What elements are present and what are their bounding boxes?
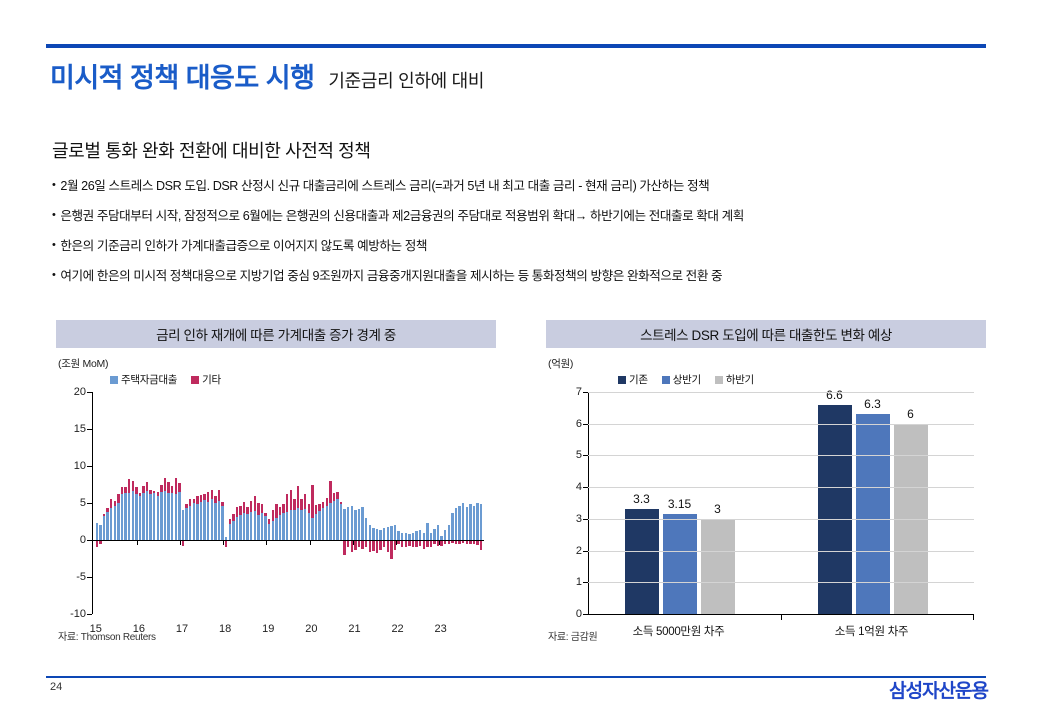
bar-column xyxy=(96,392,98,614)
bar-segment-housing xyxy=(361,507,363,540)
x-axis-tick-mark xyxy=(396,540,397,545)
bar-column xyxy=(243,392,245,614)
bar-column xyxy=(103,392,105,614)
bar-segment-housing xyxy=(390,526,392,540)
x-axis-tick-label: 20 xyxy=(305,623,317,635)
bar-column xyxy=(218,392,220,614)
bar-segment-other xyxy=(279,507,281,514)
bar-segment-other xyxy=(347,540,349,547)
bar-segment-housing xyxy=(189,506,191,540)
bar-column xyxy=(290,392,292,614)
y-axis-tick-label: -10 xyxy=(70,608,86,620)
bar-column xyxy=(171,392,173,614)
legend-label: 기존 xyxy=(629,372,648,387)
bar-segment-housing xyxy=(326,506,328,540)
bar-segment-other xyxy=(121,487,123,494)
bar-segment-other xyxy=(196,496,198,503)
chart-panel-household-loans: 금리 인하 재개에 따른 가계대출 증가 경계 중 (조원 MoM) 주택자금대… xyxy=(56,320,496,348)
y-axis-tick-mark xyxy=(87,466,92,467)
bar-segment-housing xyxy=(415,531,417,540)
bar-column xyxy=(318,392,320,614)
bar-column xyxy=(99,392,101,614)
y-axis-tick-mark xyxy=(87,614,92,615)
bar-column xyxy=(239,392,241,614)
bar-column xyxy=(193,392,195,614)
x-axis-tick-mark xyxy=(180,540,181,545)
x-axis-tick-mark xyxy=(310,540,311,545)
legend-item-first-half: 상반기 xyxy=(662,372,701,387)
x-axis-tick-label: 19 xyxy=(262,623,274,635)
bar-column xyxy=(254,392,256,614)
bar-column xyxy=(250,392,252,614)
bar-segment-other xyxy=(175,478,177,494)
bar-segment-other xyxy=(257,503,259,515)
bar-segment-housing xyxy=(473,506,475,540)
legend-swatch-first-half xyxy=(662,376,670,384)
chart-panel-dsr-limits: 스트레스 DSR 도입에 따른 대출한도 변화 예상 (억원) 기존 상반기 하… xyxy=(546,320,986,348)
page-subtitle: 기준금리 인하에 대비 xyxy=(328,67,484,93)
bar-segment-housing xyxy=(232,521,234,540)
bar-column xyxy=(315,392,317,614)
bar-segment-housing xyxy=(405,533,407,540)
bar-column xyxy=(142,392,144,614)
bar-segment-other xyxy=(132,481,134,491)
bar-column xyxy=(343,392,345,614)
bar-column xyxy=(207,392,209,614)
bar-series-layer: 3.33.1536.66.36 xyxy=(589,392,974,614)
bar-segment-other xyxy=(315,505,317,514)
bar-기존: 3.3 xyxy=(625,509,659,614)
bar-segment-housing xyxy=(365,518,367,540)
bar-segment-other xyxy=(383,540,385,547)
bar-segment-housing xyxy=(469,504,471,540)
page-title: 미시적 정책 대응도 시행 xyxy=(50,56,314,95)
bar-segment-housing xyxy=(444,530,446,540)
bar-segment-housing xyxy=(476,503,478,540)
bar-segment-housing xyxy=(275,518,277,540)
bar-column xyxy=(167,392,169,614)
bar-segment-housing xyxy=(423,533,425,540)
bar-segment-housing xyxy=(117,503,119,540)
bar-segment-other xyxy=(365,540,367,547)
bar-segment-housing xyxy=(308,513,310,540)
bar-column xyxy=(329,392,331,614)
bar-segment-other xyxy=(308,504,310,514)
bar-column xyxy=(236,392,238,614)
bar-segment-other xyxy=(390,540,392,559)
x-axis-tick-label: 18 xyxy=(219,623,231,635)
bar-column xyxy=(196,392,198,614)
y-axis-tick-label: 20 xyxy=(74,386,86,398)
bar-column xyxy=(286,392,288,614)
bar-segment-housing xyxy=(164,491,166,540)
bar-segment-housing xyxy=(229,524,231,540)
bar-column xyxy=(423,392,425,614)
bar-column xyxy=(268,392,270,614)
footer-accent-rule xyxy=(46,676,986,678)
bar-segment-housing xyxy=(290,510,292,540)
list-item: • 2월 26일 스트레스 DSR 도입. DSR 산정시 신규 대출금리에 스… xyxy=(52,178,997,195)
bar-segment-housing xyxy=(336,499,338,540)
bar-value-label: 3.3 xyxy=(633,492,650,506)
y-axis-tick-label: 10 xyxy=(74,460,86,472)
bar-segment-other xyxy=(261,504,263,513)
bar-column xyxy=(455,392,457,614)
bar-segment-housing xyxy=(146,491,148,540)
bar-segment-other xyxy=(110,499,112,509)
bar-column xyxy=(401,392,403,614)
bar-column xyxy=(397,392,399,614)
bar-segment-housing xyxy=(466,507,468,540)
bar-segment-other xyxy=(318,504,320,511)
bullet-text: 2월 26일 스트레스 DSR 도입. DSR 산정시 신규 대출금리에 스트레… xyxy=(60,178,709,195)
bar-segment-housing xyxy=(254,511,256,540)
bar-column xyxy=(354,392,356,614)
bar-column xyxy=(149,392,151,614)
bar-segment-other xyxy=(282,504,284,513)
bar-segment-housing xyxy=(167,493,169,540)
y-axis-tick-label: 4 xyxy=(576,481,582,493)
bar-segment-housing xyxy=(333,501,335,540)
bar-segment-housing xyxy=(383,528,385,540)
bar-segment-housing xyxy=(401,533,403,540)
y-axis-tick-label: 1 xyxy=(576,576,582,588)
legend-swatch-existing xyxy=(618,376,626,384)
bar-segment-other xyxy=(103,514,105,516)
bar-segment-other xyxy=(254,496,256,511)
bar-segment-other xyxy=(293,499,295,509)
bar-column xyxy=(433,392,435,614)
y-axis-tick-mark xyxy=(87,392,92,393)
bar-segment-housing xyxy=(203,500,205,540)
bar-segment-other xyxy=(322,502,324,508)
bar-column xyxy=(114,392,116,614)
bar-column xyxy=(203,392,205,614)
bar-column xyxy=(200,392,202,614)
bar-column xyxy=(175,392,177,614)
bar-segment-housing xyxy=(218,501,220,540)
bar-segment-housing xyxy=(347,507,349,540)
bar-column xyxy=(297,392,299,614)
bar-segment-housing xyxy=(121,494,123,540)
bar-segment-housing xyxy=(293,510,295,540)
bar-column xyxy=(293,392,295,614)
list-item: • 한은의 기준금리 인하가 가계대출급증으로 이어지지 않도록 예방하는 정책 xyxy=(52,238,997,255)
bar-segment-housing xyxy=(268,524,270,540)
bar-column xyxy=(246,392,248,614)
bar-segment-housing xyxy=(340,504,342,540)
bar-column xyxy=(419,392,421,614)
bar-column xyxy=(160,392,162,614)
chart-legend-right: 기존 상반기 하반기 xyxy=(618,372,754,387)
bar-segment-housing xyxy=(128,493,130,540)
bar-segment-other xyxy=(153,491,155,493)
y-axis-tick-mark xyxy=(87,577,92,578)
x-axis-tick-mark xyxy=(266,540,267,545)
bar-column xyxy=(124,392,126,614)
bar-column xyxy=(358,392,360,614)
bar-segment-other xyxy=(290,490,292,511)
bar-column xyxy=(275,392,277,614)
bar-segment-other xyxy=(372,540,374,551)
x-axis-tick-mark xyxy=(223,540,224,545)
bar-column xyxy=(214,392,216,614)
bar-column xyxy=(451,392,453,614)
bar-column xyxy=(189,392,191,614)
bar-segment-housing xyxy=(250,512,252,540)
section-heading: 글로벌 통화 완화 전환에 대비한 사전적 정책 xyxy=(52,137,370,163)
bar-column xyxy=(405,392,407,614)
bar-segment-housing xyxy=(193,503,195,540)
bar-column xyxy=(390,392,392,614)
y-axis-tick-label: -5 xyxy=(76,571,86,583)
bar-segment-other xyxy=(480,540,482,550)
gridline xyxy=(588,582,974,583)
bar-segment-housing xyxy=(433,529,435,540)
brand-logo: 삼성자산운용 xyxy=(889,676,988,703)
bar-segment-other xyxy=(336,492,338,499)
bar-column xyxy=(257,392,259,614)
bar-segment-housing xyxy=(430,533,432,540)
bullet-text: 은행권 주담대부터 시작, 잠정적으로 6월에는 은행권의 신용대출과 제2금융… xyxy=(60,208,743,225)
y-axis-tick-mark xyxy=(583,392,588,393)
bar-segment-housing xyxy=(149,494,151,540)
bar-segment-housing xyxy=(397,531,399,540)
bar-column xyxy=(139,392,141,614)
y-axis-tick-label: 3 xyxy=(576,513,582,525)
bar-column xyxy=(232,392,234,614)
legend-swatch-housing xyxy=(110,376,118,384)
y-axis-tick-label: 7 xyxy=(576,386,582,398)
bar-segment-other xyxy=(218,490,220,501)
y-axis-tick-mark xyxy=(583,424,588,425)
category-label: 소득 5000만원 차주 xyxy=(633,623,725,639)
x-axis-zero-line xyxy=(92,540,484,541)
bar-column xyxy=(426,392,428,614)
bar-segment-housing xyxy=(135,494,137,540)
bar-segment-housing xyxy=(279,515,281,540)
plot-area-right: 3.33.1536.66.36 76543210소득 5000만원 차주소득 1… xyxy=(588,392,974,614)
bar-segment-housing xyxy=(246,514,248,540)
bar-segment-housing xyxy=(351,506,353,540)
bar-value-label: 6 xyxy=(907,407,914,421)
bar-segment-housing xyxy=(175,494,177,540)
bar-column xyxy=(110,392,112,614)
bar-segment-other xyxy=(361,540,363,549)
x-axis-tick-mark xyxy=(137,540,138,545)
bar-series-layer xyxy=(93,392,484,614)
bar-segment-other xyxy=(343,540,345,555)
x-axis-tick-label: 22 xyxy=(391,623,403,635)
bar-segment-other xyxy=(268,519,270,523)
bar-하반기: 3 xyxy=(701,519,735,614)
legend-swatch-other xyxy=(191,376,199,384)
bar-segment-housing xyxy=(451,513,453,540)
header-accent-rule xyxy=(46,44,986,48)
bar-value-label: 6.6 xyxy=(826,388,843,402)
bar-column xyxy=(178,392,180,614)
bar-segment-housing xyxy=(196,504,198,540)
bar-value-label: 3.15 xyxy=(668,497,691,511)
bar-segment-housing xyxy=(455,508,457,540)
bar-column xyxy=(333,392,335,614)
bar-segment-housing xyxy=(142,493,144,540)
bar-column xyxy=(121,392,123,614)
gridline xyxy=(588,455,974,456)
bar-column xyxy=(311,392,313,614)
bar-segment-other xyxy=(286,494,288,512)
bar-segment-other xyxy=(423,540,425,549)
legend-label: 하반기 xyxy=(726,372,754,387)
bar-segment-other xyxy=(264,513,266,517)
bar-segment-other xyxy=(142,486,144,493)
bar-segment-housing xyxy=(379,530,381,540)
bar-column xyxy=(351,392,353,614)
bar-segment-other xyxy=(117,494,119,503)
bar-column xyxy=(272,392,274,614)
bar-segment-other xyxy=(412,540,414,547)
bar-segment-other xyxy=(207,492,209,502)
bar-segment-housing xyxy=(329,503,331,540)
bar-segment-housing xyxy=(124,493,126,540)
bar-segment-other xyxy=(297,486,299,508)
legend-item-second-half: 하반기 xyxy=(715,372,754,387)
y-axis-tick-label: 2 xyxy=(576,545,582,557)
bar-segment-other xyxy=(387,540,389,552)
y-axis-tick-label: 0 xyxy=(80,534,86,546)
bar-column xyxy=(444,392,446,614)
bar-column xyxy=(458,392,460,614)
bar-segment-housing xyxy=(318,511,320,540)
bar-column xyxy=(221,392,223,614)
bar-segment-other xyxy=(243,502,245,514)
bar-segment-other xyxy=(211,490,213,499)
bar-column xyxy=(117,392,119,614)
gridline xyxy=(588,487,974,488)
bar-segment-housing xyxy=(257,515,259,540)
bar-segment-housing xyxy=(178,492,180,540)
plot-area-left: 20151050-5-10151617181920212223 xyxy=(92,392,484,614)
x-axis-tick-label: 23 xyxy=(435,623,447,635)
bar-segment-other xyxy=(171,486,173,493)
bar-column xyxy=(412,392,414,614)
bar-segment-other xyxy=(167,482,169,493)
bar-column xyxy=(440,392,442,614)
bar-segment-housing xyxy=(103,516,105,540)
bullet-marker-icon: • xyxy=(52,238,55,253)
bar-column xyxy=(372,392,374,614)
bar-column xyxy=(225,392,227,614)
bar-segment-other xyxy=(376,540,378,553)
bar-상반기: 6.3 xyxy=(856,414,890,614)
bar-segment-housing xyxy=(106,512,108,540)
bar-segment-other xyxy=(124,487,126,493)
x-axis-tick-mark xyxy=(439,540,440,545)
chart-source-right: 자료: 금감원 xyxy=(548,628,597,643)
bar-segment-housing xyxy=(99,525,101,540)
list-item: • 여기에 한은의 미시적 정책대응으로 지방기업 중심 9조원까지 금융중개지… xyxy=(52,268,997,285)
bar-segment-housing xyxy=(480,504,482,540)
bar-column xyxy=(106,392,108,614)
y-axis-tick-mark xyxy=(583,551,588,552)
bar-segment-housing xyxy=(282,513,284,540)
bar-column xyxy=(383,392,385,614)
bar-value-label: 6.3 xyxy=(864,397,881,411)
bar-segment-other xyxy=(354,540,356,550)
chart-title-left: 금리 인하 재개에 따른 가계대출 증가 경계 중 xyxy=(56,320,496,348)
bar-column xyxy=(185,392,187,614)
bar-segment-other xyxy=(193,499,195,503)
bar-column xyxy=(164,392,166,614)
bar-segment-housing xyxy=(264,516,266,540)
bar-segment-housing xyxy=(315,514,317,540)
bar-segment-housing xyxy=(322,508,324,540)
bar-column xyxy=(135,392,137,614)
bar-segment-housing xyxy=(297,508,299,540)
y-axis-tick-label: 0 xyxy=(576,608,582,620)
bar-segment-housing xyxy=(311,518,313,540)
bar-segment-other xyxy=(229,519,231,523)
bar-segment-housing xyxy=(171,493,173,540)
bar-segment-housing xyxy=(412,533,414,540)
bar-segment-housing xyxy=(458,506,460,540)
bar-column xyxy=(146,392,148,614)
page-number: 24 xyxy=(50,681,62,693)
bar-segment-housing xyxy=(358,509,360,540)
bar-segment-other xyxy=(311,485,313,518)
bullet-list: • 2월 26일 스트레스 DSR 도입. DSR 산정시 신규 대출금리에 스… xyxy=(52,178,997,298)
bar-segment-housing xyxy=(214,503,216,540)
bar-segment-housing xyxy=(236,517,238,540)
gridline xyxy=(588,519,974,520)
bar-column xyxy=(379,392,381,614)
bar-segment-housing xyxy=(114,506,116,540)
list-item: • 은행권 주담대부터 시작, 잠정적으로 6월에는 은행권의 신용대출과 제2… xyxy=(52,208,997,225)
slide-title-row: 미시적 정책 대응도 시행 기준금리 인하에 대비 xyxy=(50,56,484,95)
bar-segment-other xyxy=(157,492,159,496)
category-separator-tick xyxy=(781,614,782,620)
bar-segment-other xyxy=(135,487,137,494)
bar-segment-other xyxy=(426,540,428,547)
bar-segment-housing xyxy=(153,493,155,540)
bar-segment-housing xyxy=(110,508,112,540)
bar-column xyxy=(430,392,432,614)
bar-column xyxy=(264,392,266,614)
bar-segment-housing xyxy=(394,525,396,540)
bar-segment-other xyxy=(146,482,148,492)
bar-segment-other xyxy=(221,502,223,506)
bar-segment-other xyxy=(189,499,191,506)
bar-column xyxy=(361,392,363,614)
bar-column xyxy=(261,392,263,614)
y-axis-tick-mark xyxy=(583,519,588,520)
bar-segment-other xyxy=(272,510,274,520)
bar-column xyxy=(387,392,389,614)
legend-item-other: 기타 xyxy=(191,372,221,387)
bar-segment-other xyxy=(114,501,116,506)
bar-segment-other xyxy=(329,481,331,503)
bar-segment-other xyxy=(225,540,227,547)
bar-segment-housing xyxy=(286,512,288,540)
bar-segment-housing xyxy=(243,513,245,540)
bar-segment-other xyxy=(239,506,241,515)
bar-column xyxy=(376,392,378,614)
legend-label: 상반기 xyxy=(673,372,701,387)
legend-label: 기타 xyxy=(202,372,221,387)
x-axis-end-tick xyxy=(973,614,974,620)
bar-segment-housing xyxy=(376,529,378,540)
bar-상반기: 3.15 xyxy=(663,514,697,614)
